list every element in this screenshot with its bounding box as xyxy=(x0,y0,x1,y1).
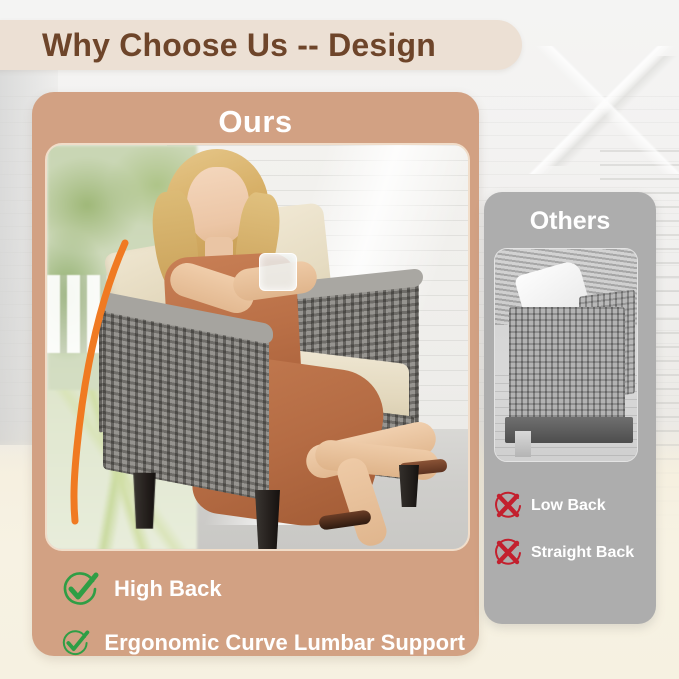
ours-panel: Ours xyxy=(32,92,479,656)
others-feature-item: Straight Back xyxy=(492,529,650,576)
ours-product-photo xyxy=(45,143,470,551)
chair-leg-right xyxy=(399,465,419,507)
infographic-canvas: Why Choose Us -- Design Ours xyxy=(0,0,679,679)
others-product-photo xyxy=(494,248,638,462)
title-banner: Why Choose Us -- Design xyxy=(0,20,522,70)
check-circle-icon xyxy=(60,569,100,609)
ours-feature-item: High Back xyxy=(60,562,465,616)
ours-feature-list: High Back Ergonomic Curve Lumbar Support xyxy=(60,562,465,656)
others-panel: Others Low Back xyxy=(484,192,656,624)
ours-feature-item: Ergonomic Curve Lumbar Support xyxy=(60,616,465,656)
others-feature-item: Low Back xyxy=(492,482,650,529)
others-photo-chair-leg xyxy=(515,431,531,457)
chair-leg-left xyxy=(133,473,157,529)
others-feature-label: Low Back xyxy=(531,497,606,515)
x-circle-icon xyxy=(492,490,524,522)
others-panel-title: Others xyxy=(484,207,656,236)
others-feature-label: Straight Back xyxy=(531,544,634,562)
page-title: Why Choose Us -- Design xyxy=(42,27,436,64)
chair-leg-middle xyxy=(255,490,280,551)
others-photo-chair-back xyxy=(509,307,625,427)
background-roof-gable xyxy=(505,46,679,174)
x-circle-icon xyxy=(492,537,524,569)
model-drink-glass xyxy=(259,253,297,291)
ours-feature-label: High Back xyxy=(114,576,222,602)
others-feature-list: Low Back Straight Back xyxy=(492,482,650,576)
ours-feature-label: Ergonomic Curve Lumbar Support xyxy=(104,630,465,656)
ours-panel-title: Ours xyxy=(32,104,479,140)
check-circle-icon xyxy=(60,623,90,656)
